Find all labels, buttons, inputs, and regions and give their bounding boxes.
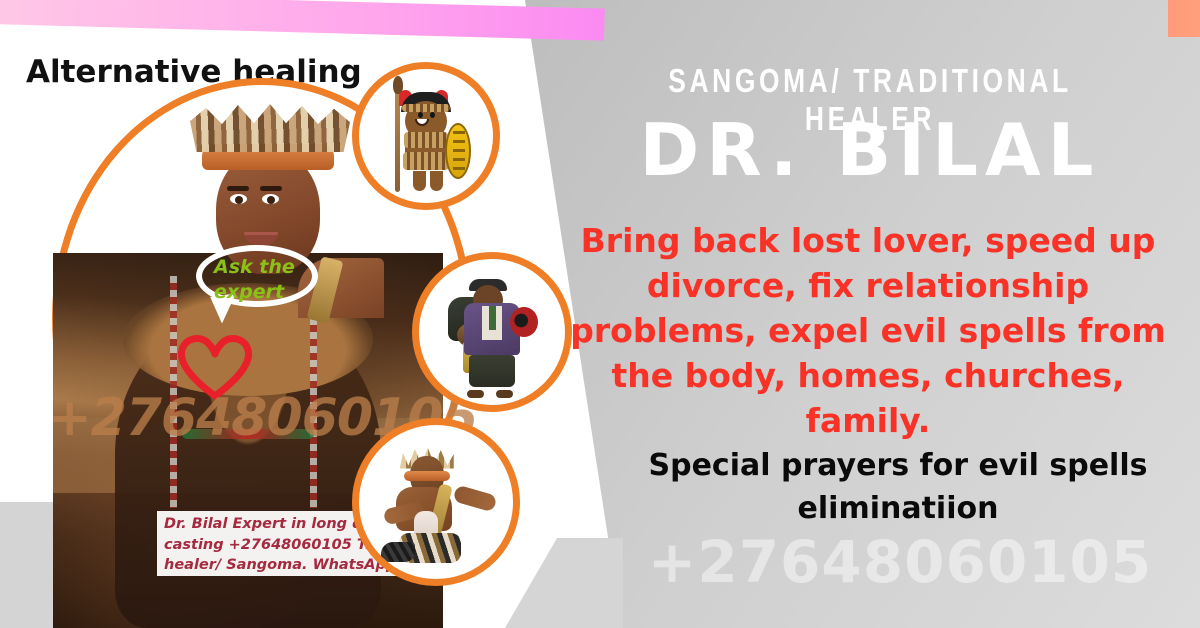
traveller-tie bbox=[489, 306, 496, 330]
illustration-pupil-right bbox=[267, 196, 275, 204]
illustration-pupil-left bbox=[235, 196, 243, 204]
healer-name: DR. BILAL bbox=[560, 108, 1180, 192]
caption-line-3: healer/ Sangoma. WhatsApp n bbox=[164, 555, 398, 576]
warrior-leg-right bbox=[430, 171, 443, 191]
sangoma-crown-band bbox=[404, 471, 450, 481]
circle-badge-zulu-warrior bbox=[352, 62, 500, 210]
shield-pattern bbox=[453, 131, 465, 173]
warrior-headband bbox=[402, 104, 450, 112]
speech-bubble-text: Ask the expert bbox=[214, 255, 310, 305]
services-text: Bring back lost lover, speed up divorce,… bbox=[548, 218, 1188, 443]
warrior-leg-left bbox=[413, 171, 426, 191]
warrior-chest-garment bbox=[404, 132, 448, 148]
illustration-brow-right bbox=[260, 186, 282, 191]
circle-badge-kneeling-sangoma bbox=[352, 418, 520, 586]
traveller-shoe-right bbox=[496, 390, 513, 398]
promotional-poster: Alternative healing Ask the expert +27 bbox=[0, 0, 1200, 628]
phone-watermark: +27648060105 bbox=[600, 528, 1200, 596]
pink-accent-bar bbox=[0, 0, 605, 41]
illustration-brow-left bbox=[227, 186, 249, 191]
warrior-eye-left bbox=[418, 112, 423, 118]
speech-bubble: Ask the expert bbox=[196, 245, 318, 323]
traveller-shoe-left bbox=[467, 390, 484, 398]
orange-accent-bar bbox=[1168, 0, 1200, 37]
traveller-red-bag bbox=[510, 307, 538, 337]
sangoma-arm-right bbox=[453, 484, 498, 512]
offer-text: Special prayers for evil spells eliminat… bbox=[600, 444, 1196, 530]
warrior-eye-right bbox=[430, 112, 435, 118]
sangoma-tail-ornament bbox=[381, 542, 415, 562]
feather-headdress-icon bbox=[190, 104, 350, 152]
grey-block-bottom-left bbox=[0, 502, 56, 628]
warrior-skirt bbox=[403, 152, 449, 170]
traveller-trousers bbox=[469, 355, 515, 387]
